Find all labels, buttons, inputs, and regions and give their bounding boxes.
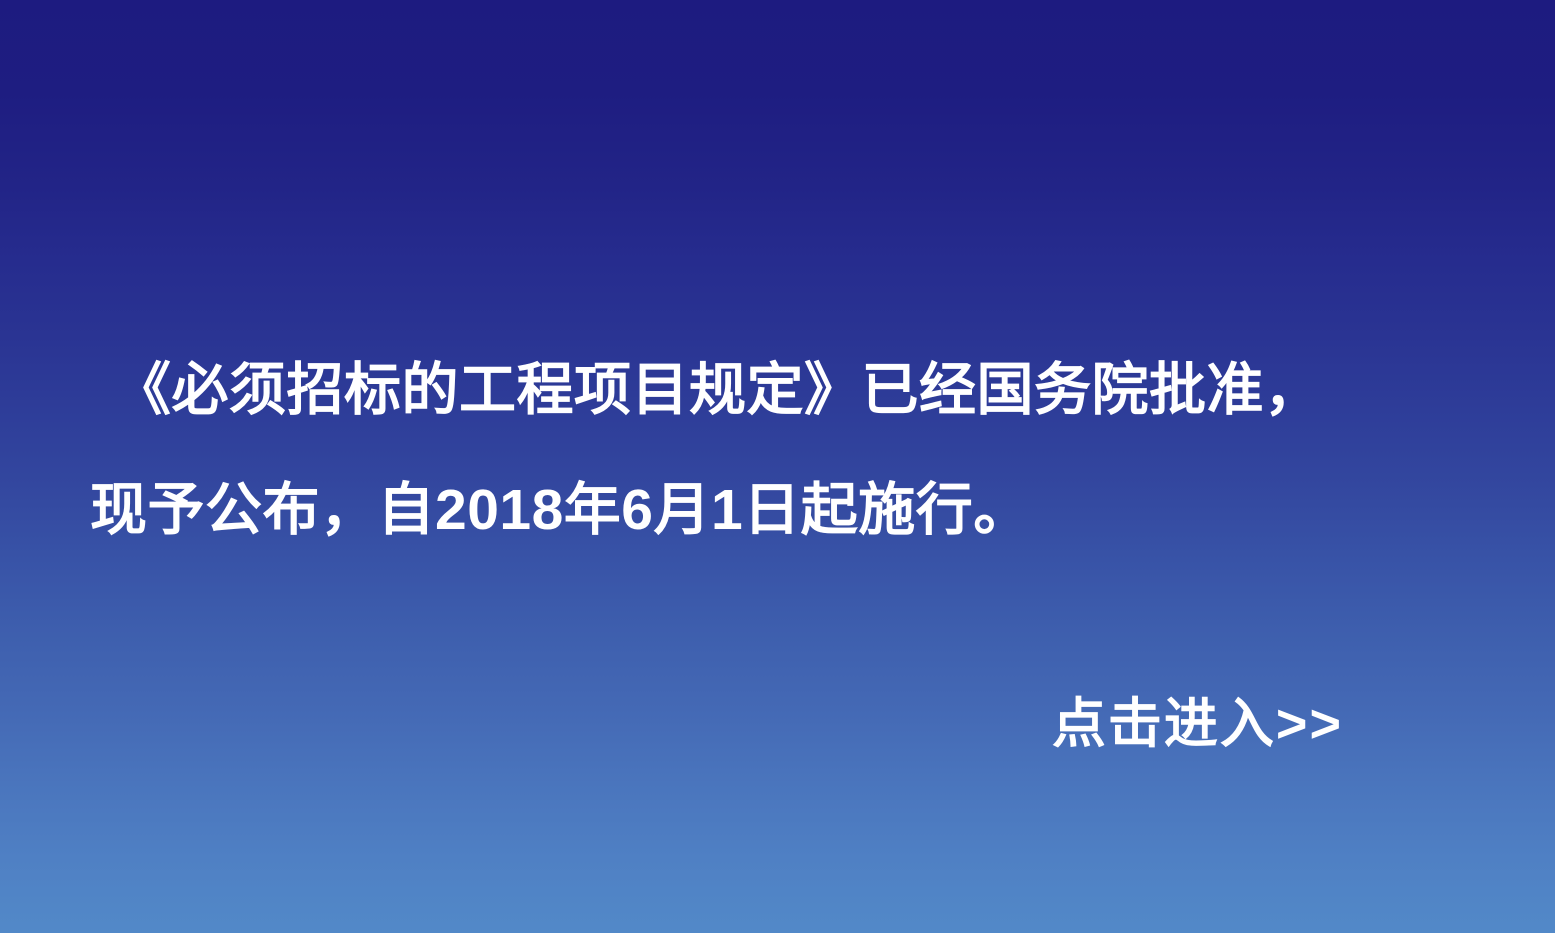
announcement-line-1: 《必须招标的工程项目规定》已经国务院批准， (86, 330, 1486, 450)
enter-link[interactable]: 点击进入>> (1052, 686, 1343, 762)
announcement-banner: 《必须招标的工程项目规定》已经国务院批准， 现予公布，自2018年6月1日起施行… (0, 0, 1555, 933)
announcement-line-2: 现予公布，自2018年6月1日起施行。 (86, 450, 1486, 570)
cta-container: 点击进入>> (0, 686, 1555, 762)
announcement-paragraph: 《必须招标的工程项目规定》已经国务院批准， 现予公布，自2018年6月1日起施行… (86, 330, 1486, 570)
